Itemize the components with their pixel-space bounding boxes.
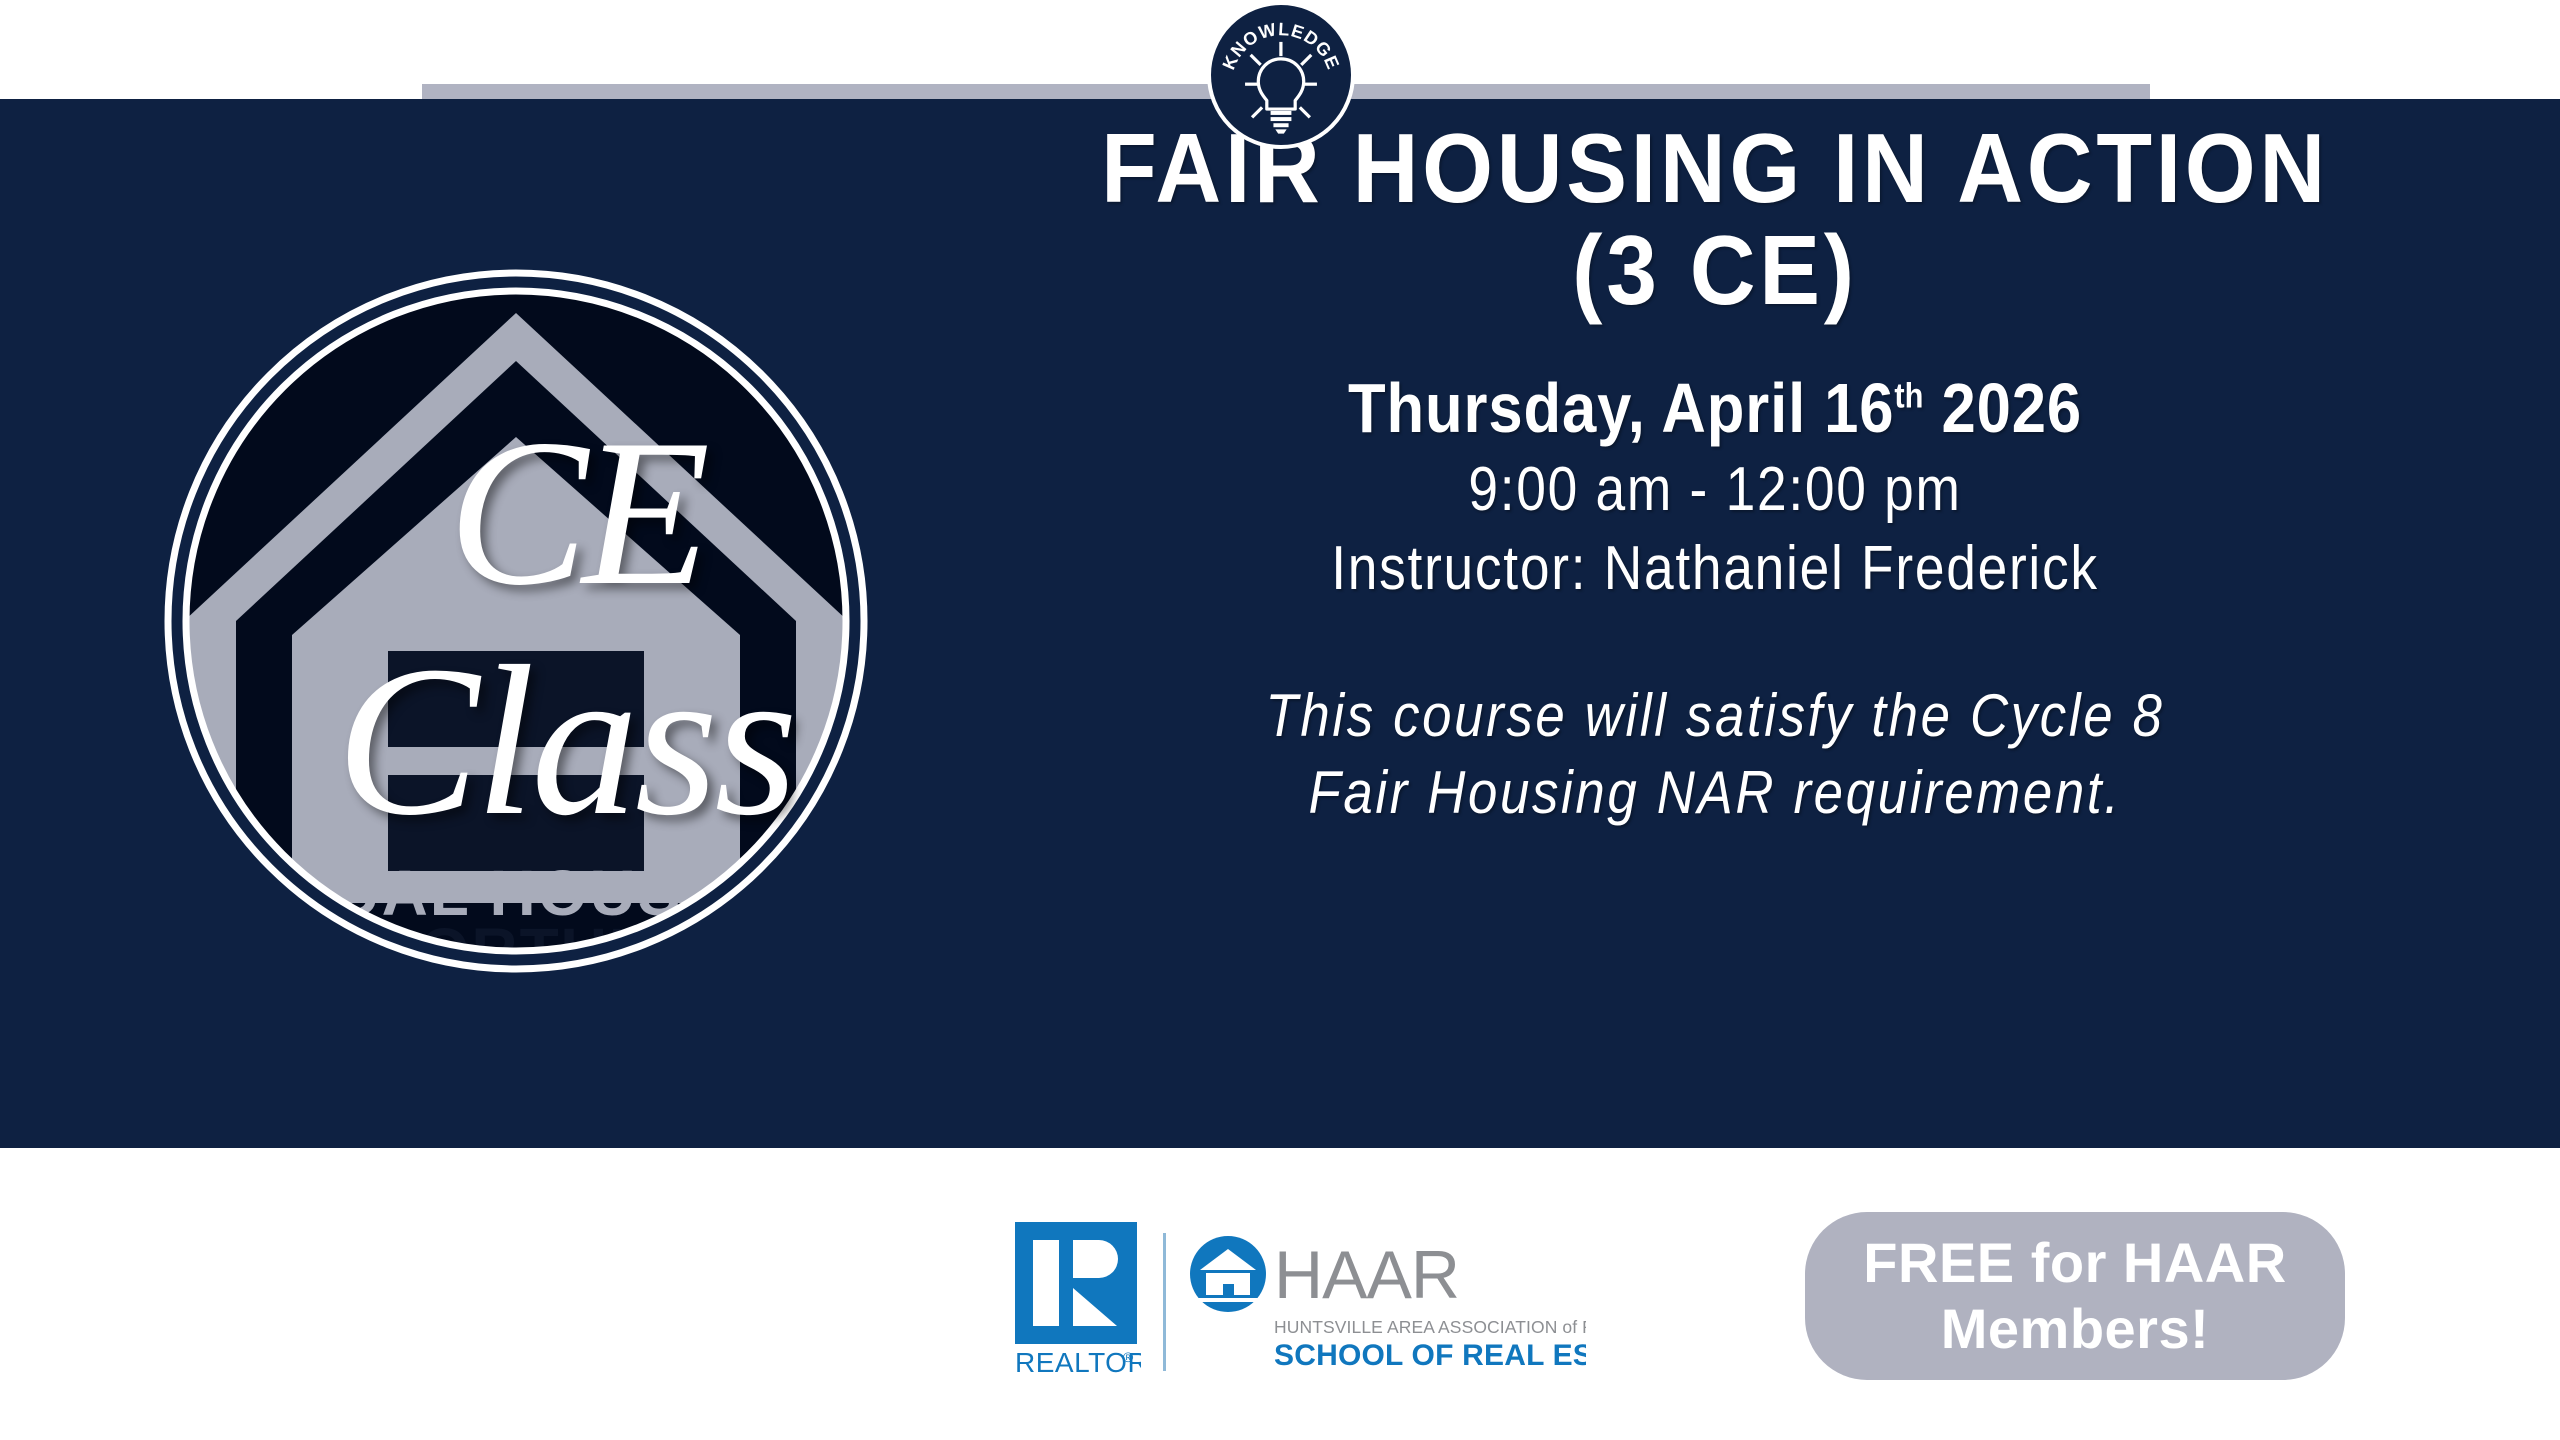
event-flyer: KNOWLEDGE xyxy=(0,0,2560,1440)
haar-house-icon xyxy=(1190,1236,1266,1312)
event-date: Thursday, April 16th 2026 xyxy=(1024,368,2406,448)
course-note: This course will satisfy the Cycle 8 Fai… xyxy=(930,678,2500,832)
emblem-script-line-2: Class xyxy=(336,621,794,860)
event-instructor: Instructor: Nathaniel Frederick xyxy=(1040,533,2390,604)
free-badge-line-2: Members! xyxy=(1941,1296,2210,1362)
course-note-line-2: Fair Housing NAR requirement. xyxy=(1024,755,2406,832)
lightbulb-icon xyxy=(1245,42,1317,134)
brand-lockup: REALTOR ® HAAR HUNTSVILLE AREA ASSOCIATI… xyxy=(1013,1222,1586,1382)
lockup-divider xyxy=(1163,1233,1166,1371)
free-for-members-badge: FREE for HAAR Members! xyxy=(1805,1212,2345,1380)
haar-logo: HAAR HUNTSVILLE AREA ASSOCIATION of REAL… xyxy=(1188,1232,1586,1372)
emblem-script-line-1: CE xyxy=(448,397,707,629)
free-badge-line-1: FREE for HAAR xyxy=(1863,1230,2286,1296)
haar-acronym: HAAR xyxy=(1274,1237,1459,1313)
realtor-logo: REALTOR ® xyxy=(1013,1222,1141,1382)
event-date-prefix: Thursday, April 16 xyxy=(1348,369,1894,447)
page-subtitle-ce-credits: (3 CE) xyxy=(985,220,2445,322)
haar-association-line: HUNTSVILLE AREA ASSOCIATION of REALTORS® xyxy=(1274,1317,1586,1337)
course-note-line-1: This course will satisfy the Cycle 8 xyxy=(1024,678,2406,755)
page-title: FAIR HOUSING IN ACTION xyxy=(985,118,2445,220)
event-date-ordinal: th xyxy=(1894,376,1923,415)
realtor-registered-mark: ® xyxy=(1123,1349,1134,1365)
event-date-year: 2026 xyxy=(1923,369,2082,447)
content-column: FAIR HOUSING IN ACTION (3 CE) Thursday, … xyxy=(930,118,2500,831)
event-time: 9:00 am - 12:00 pm xyxy=(1040,454,2390,525)
ce-class-emblem: QUAL HOUSIN PORTUN CE Class xyxy=(148,253,884,989)
knowledge-badge: KNOWLEDGE xyxy=(1207,1,1355,149)
haar-school-line: SCHOOL OF REAL ESTATE xyxy=(1274,1339,1586,1372)
